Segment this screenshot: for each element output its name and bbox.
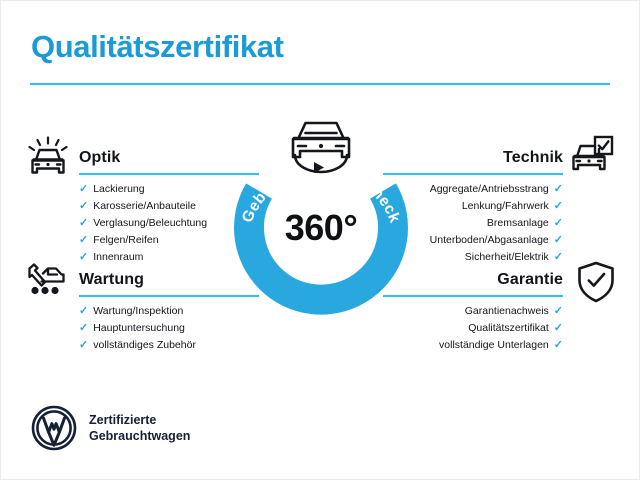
section-header-technik: Technik: [383, 141, 563, 175]
checklist-item: Bremsanlage✓: [383, 215, 563, 232]
checklist-item-label: vollständiges Zubehör: [93, 340, 196, 351]
checklist-item-label: Lenkung/Fahrwerk: [462, 201, 549, 212]
wrench-car-icon: [23, 259, 69, 305]
checklist-item: Lenkung/Fahrwerk✓: [383, 198, 563, 215]
vw-logo: [31, 405, 77, 451]
section-divider: [383, 295, 563, 297]
vw-lockup: Zertifizierte Gebrauchtwagen: [31, 405, 190, 451]
checklist-item: ✓Lackierung: [79, 181, 259, 198]
checklist-item-label: Hauptuntersuchung: [93, 323, 185, 334]
check-icon: ✓: [554, 235, 563, 246]
checklist-item-label: Innenraum: [93, 252, 143, 263]
checklist-item-label: vollständige Unterlagen: [439, 340, 549, 351]
section-optik: Optik✓Lackierung✓Karosserie/Anbauteile✓V…: [79, 141, 259, 266]
section-divider: [79, 295, 259, 297]
section-garantie: GarantieGarantienachweis✓Qualitätszertif…: [383, 263, 563, 354]
section-divider: [383, 173, 563, 175]
section-title: Wartung: [79, 271, 144, 289]
section-header-wartung: Wartung: [79, 263, 259, 297]
checklist-item: Garantienachweis✓: [383, 303, 563, 320]
checklist-item-label: Karosserie/Anbauteile: [93, 201, 196, 212]
shield-check-icon: [573, 259, 619, 305]
footer-text: Zertifizierte Gebrauchtwagen: [89, 412, 190, 445]
section-header-garantie: Garantie: [383, 263, 563, 297]
check-icon: ✓: [79, 235, 88, 246]
checklist-item: ✓Karosserie/Anbauteile: [79, 198, 259, 215]
checklist-item-label: Sicherheit/Elektrik: [465, 252, 549, 263]
checklist-item-label: Aggregate/Antriebsstrang: [430, 184, 549, 195]
checklist-item: Qualitätszertifikat✓: [383, 320, 563, 337]
car-checkbox-icon: [569, 133, 615, 179]
footer-line-2: Gebrauchtwagen: [89, 428, 190, 445]
checklist-item-label: Lackierung: [93, 184, 144, 195]
check-icon: ✓: [79, 218, 88, 229]
checklist: ✓Wartung/Inspektion✓Hauptuntersuchung✓vo…: [79, 303, 259, 354]
check-icon: ✓: [554, 306, 563, 317]
checklist-item-label: Verglasung/Beleuchtung: [93, 218, 207, 229]
checklist-item-label: Unterboden/Abgasanlage: [430, 235, 549, 246]
checklist-item: Unterboden/Abgasanlage✓: [383, 232, 563, 249]
checklist-item: ✓Wartung/Inspektion: [79, 303, 259, 320]
check-icon: ✓: [79, 323, 88, 334]
car-rotate-icon: [283, 115, 359, 177]
section-title: Garantie: [497, 271, 563, 289]
page-title: Qualitätszertifikat: [31, 29, 284, 65]
section-title: Optik: [79, 149, 120, 167]
checklist-item: ✓Hauptuntersuchung: [79, 320, 259, 337]
check-icon: ✓: [554, 340, 563, 351]
check-icon: ✓: [554, 323, 563, 334]
section-title: Technik: [503, 149, 563, 167]
checklist-item-label: Qualitätszertifikat: [468, 323, 549, 334]
check-icon: ✓: [554, 252, 563, 263]
check-icon: ✓: [554, 201, 563, 212]
header-divider: [30, 83, 610, 85]
checklist-item: vollständige Unterlagen✓: [383, 337, 563, 354]
check-icon: ✓: [79, 306, 88, 317]
checklist-item: ✓Verglasung/Beleuchtung: [79, 215, 259, 232]
section-header-optik: Optik: [79, 141, 259, 175]
checklist-item-label: Garantienachweis: [465, 306, 549, 317]
section-divider: [79, 173, 259, 175]
checklist-item: ✓Felgen/Reifen: [79, 232, 259, 249]
footer-line-1: Zertifizierte: [89, 412, 190, 429]
checklist-item: Aggregate/Antriebsstrang✓: [383, 181, 563, 198]
checklist: Garantienachweis✓Qualitätszertifikat✓vol…: [383, 303, 563, 354]
car-shine-icon: [25, 135, 71, 181]
section-wartung: Wartung✓Wartung/Inspektion✓Hauptuntersuc…: [79, 263, 259, 354]
check-icon: ✓: [79, 201, 88, 212]
certificate-page: Qualitätszertifikat: [0, 0, 640, 480]
checklist: ✓Lackierung✓Karosserie/Anbauteile✓Vergla…: [79, 181, 259, 266]
checklist-item-label: Felgen/Reifen: [93, 235, 158, 246]
section-technik: TechnikAggregate/Antriebsstrang✓Lenkung/…: [383, 141, 563, 266]
checklist-item-label: Bremsanlage: [487, 218, 549, 229]
check-icon: ✓: [79, 340, 88, 351]
check-icon: ✓: [554, 184, 563, 195]
checklist: Aggregate/Antriebsstrang✓Lenkung/Fahrwer…: [383, 181, 563, 266]
check-icon: ✓: [79, 184, 88, 195]
checklist-item: ✓vollständiges Zubehör: [79, 337, 259, 354]
check-icon: ✓: [79, 252, 88, 263]
checklist-item-label: Wartung/Inspektion: [93, 306, 183, 317]
check-icon: ✓: [554, 218, 563, 229]
